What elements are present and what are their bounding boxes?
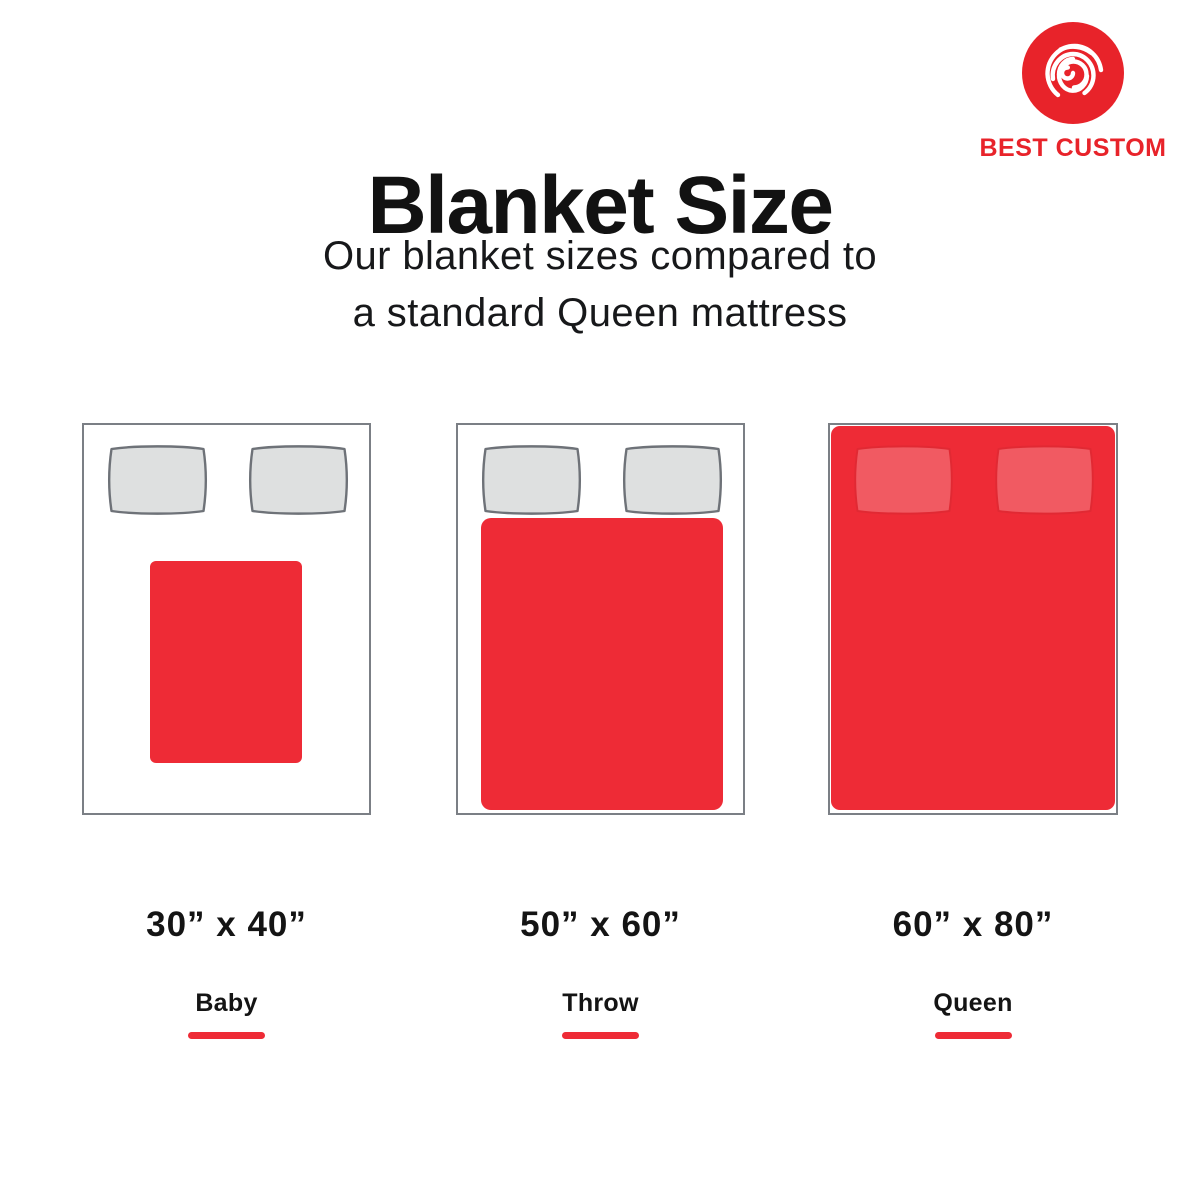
size-label: Queen: [828, 989, 1118, 1018]
accent-underline: [935, 1032, 1012, 1039]
pillow-icon: [622, 443, 723, 517]
pillow-icon: [481, 443, 582, 517]
bed-caption-baby: 30” x 40” Baby: [82, 905, 371, 1039]
size-label: Throw: [456, 989, 745, 1018]
blanket-swatch-baby: [150, 561, 302, 763]
accent-underline: [188, 1032, 265, 1039]
brand-logo: BEST CUSTOM: [968, 22, 1178, 163]
dimensions-text: 30” x 40”: [82, 905, 371, 945]
bed-diagram-baby: [82, 423, 371, 815]
dimensions-text: 60” x 80”: [828, 905, 1118, 945]
dimensions-text: 50” x 60”: [456, 905, 745, 945]
bed-caption-queen: 60” x 80” Queen: [828, 905, 1118, 1039]
pillow-icon: [248, 443, 349, 517]
bed-diagram-queen: [828, 423, 1118, 815]
pillow-icon: [853, 443, 954, 517]
pillow-icon: [107, 443, 208, 517]
pillow-icon: [994, 443, 1095, 517]
page-subtitle: Our blanket sizes compared to a standard…: [0, 228, 1200, 342]
infographic-canvas: BEST CUSTOM Blanket Size Our blanket siz…: [0, 0, 1200, 1200]
blanket-swatch-throw: [481, 518, 723, 810]
subtitle-line-1: Our blanket sizes compared to: [0, 228, 1200, 285]
accent-underline: [562, 1032, 639, 1039]
blanket-swatch-queen: [831, 426, 1115, 810]
size-label: Baby: [82, 989, 371, 1018]
bed-diagram-throw: [456, 423, 745, 815]
bed-caption-throw: 50” x 60” Throw: [456, 905, 745, 1039]
subtitle-line-2: a standard Queen mattress: [0, 285, 1200, 342]
fingerprint-icon: [1022, 22, 1124, 124]
